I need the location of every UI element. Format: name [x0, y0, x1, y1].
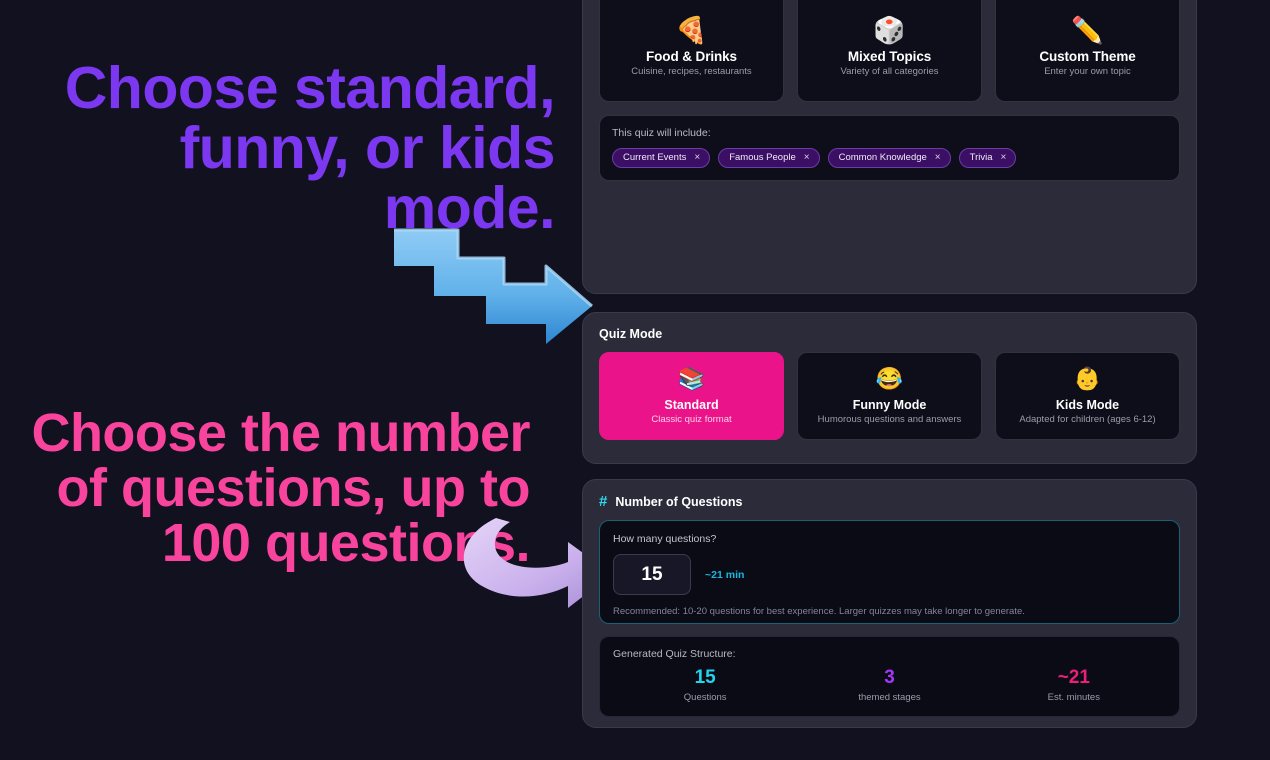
question-count-row: ~21 min	[613, 554, 1166, 595]
annotation-quiz-mode: Choose standard, funny, or kids mode.	[10, 58, 555, 239]
stat-value: 3	[797, 667, 981, 690]
category-card-food-drinks[interactable]: 🍕 Food & Drinks Cuisine, recipes, restau…	[599, 0, 784, 102]
category-card-custom-theme[interactable]: ✏️ Custom Theme Enter your own topic	[995, 0, 1180, 102]
close-icon[interactable]: ×	[804, 152, 810, 163]
tag-label: Famous People	[729, 152, 796, 163]
stat-caption: Est. minutes	[982, 692, 1166, 703]
stat-themed-stages: 3 themed stages	[797, 667, 981, 703]
category-subtitle: Variety of all categories	[840, 66, 938, 77]
mode-subtitle: Adapted for children (ages 6-12)	[1019, 414, 1155, 425]
mode-title: Standard	[664, 398, 718, 412]
category-title: Custom Theme	[1039, 49, 1135, 64]
pencil-icon: ✏️	[1071, 16, 1103, 45]
quiz-mode-panel: Quiz Mode 📚 Standard Classic quiz format…	[582, 312, 1197, 464]
blue-arrow-icon	[386, 222, 601, 352]
mode-title: Funny Mode	[853, 398, 927, 412]
close-icon[interactable]: ×	[1001, 152, 1007, 163]
categories-panel: 🔬 Science Physics, chemistry, biology 🎬 …	[582, 0, 1197, 294]
stat-questions: 15 Questions	[613, 667, 797, 703]
baby-icon: 👶	[1074, 367, 1101, 391]
mode-title: Kids Mode	[1056, 398, 1119, 412]
question-count-box: How many questions? ~21 min Recommended:…	[599, 520, 1180, 624]
mode-card-standard[interactable]: 📚 Standard Classic quiz format	[599, 352, 784, 440]
quiz-includes-label: This quiz will include:	[612, 127, 1167, 139]
question-count-input[interactable]	[613, 554, 691, 595]
time-estimate-label: ~21 min	[705, 569, 744, 581]
mode-card-funny[interactable]: 😂 Funny Mode Humorous questions and answ…	[797, 352, 982, 440]
stat-caption: Questions	[613, 692, 797, 703]
stat-caption: themed stages	[797, 692, 981, 703]
tag-label: Common Knowledge	[839, 152, 927, 163]
tag-list: Current Events × Famous People × Common …	[612, 148, 1167, 168]
quiz-includes-bar: This quiz will include: Current Events ×…	[599, 115, 1180, 181]
close-icon[interactable]: ×	[694, 152, 700, 163]
number-of-questions-panel: # Number of Questions How many questions…	[582, 479, 1197, 728]
mode-card-kids[interactable]: 👶 Kids Mode Adapted for children (ages 6…	[995, 352, 1180, 440]
category-subtitle: Cuisine, recipes, restaurants	[631, 66, 751, 77]
question-count-hint: Recommended: 10-20 questions for best ex…	[613, 606, 1166, 617]
stat-value: ~21	[982, 667, 1166, 690]
mode-subtitle: Classic quiz format	[651, 414, 731, 425]
pizza-icon: 🍕	[675, 16, 707, 45]
category-card-mixed-topics[interactable]: 🎲 Mixed Topics Variety of all categories	[797, 0, 982, 102]
tag-trivia[interactable]: Trivia ×	[959, 148, 1017, 168]
quiz-mode-grid: 📚 Standard Classic quiz format 😂 Funny M…	[599, 352, 1180, 440]
tag-label: Current Events	[623, 152, 686, 163]
generated-structure-grid: 15 Questions 3 themed stages ~21 Est. mi…	[613, 667, 1166, 703]
books-icon: 📚	[678, 367, 705, 391]
generated-structure-label: Generated Quiz Structure:	[613, 648, 1166, 660]
tag-current-events[interactable]: Current Events ×	[612, 148, 710, 168]
stat-est-minutes: ~21 Est. minutes	[982, 667, 1166, 703]
screen-root: Choose standard, funny, or kids mode. Ch…	[0, 0, 1270, 760]
category-title: Mixed Topics	[848, 49, 931, 64]
category-subtitle: Enter your own topic	[1044, 66, 1131, 77]
close-icon[interactable]: ×	[935, 152, 941, 163]
category-title: Food & Drinks	[646, 49, 737, 64]
category-grid: 🔬 Science Physics, chemistry, biology 🎬 …	[599, 0, 1180, 102]
number-of-questions-header: # Number of Questions	[599, 494, 1180, 509]
mode-subtitle: Humorous questions and answers	[818, 414, 962, 425]
tag-famous-people[interactable]: Famous People ×	[718, 148, 819, 168]
stat-value: 15	[613, 667, 797, 690]
tag-common-knowledge[interactable]: Common Knowledge ×	[828, 148, 951, 168]
joy-face-icon: 😂	[876, 367, 903, 391]
hash-icon: #	[599, 494, 607, 509]
dice-icon: 🎲	[873, 16, 905, 45]
generated-structure-box: Generated Quiz Structure: 15 Questions 3…	[599, 636, 1180, 717]
quiz-mode-title: Quiz Mode	[599, 327, 1180, 341]
section-title-label: Number of Questions	[615, 495, 742, 509]
question-count-label: How many questions?	[613, 533, 1166, 545]
tag-label: Trivia	[970, 152, 993, 163]
